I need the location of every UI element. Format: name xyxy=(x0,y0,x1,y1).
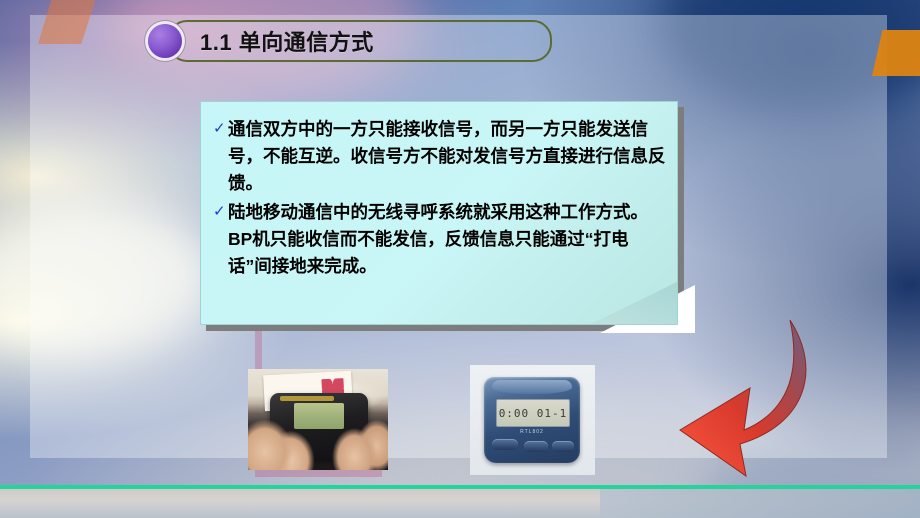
pager-top-bevel xyxy=(492,380,572,394)
teal-divider-rule xyxy=(0,485,920,489)
bottom-band-right xyxy=(600,489,920,518)
list-item: ✓ 通信双方中的一方只能接收信号，而另一方只能发送信号，不能互逆。收信号方不能对… xyxy=(213,116,667,197)
pager-button xyxy=(524,441,548,452)
page-title: 1.1 单向通信方式 xyxy=(200,25,374,57)
hand-fingers-decor xyxy=(248,410,388,470)
checkmark-icon: ✓ xyxy=(213,199,227,225)
pager-button xyxy=(552,441,574,452)
title-pill-frame: 1.1 单向通信方式 xyxy=(168,20,552,62)
blue-pager-device: 0:00 01-1 RTL802 xyxy=(484,377,580,463)
slide-canvas: 1.1 单向通信方式 ✓ 通信双方中的一方只能接收信号，而另一方只能发送信号，不… xyxy=(0,0,920,518)
hand-holding-pager-photo xyxy=(248,369,388,470)
purple-sphere-bullet-icon xyxy=(148,24,182,58)
pager-lcd-text: 0:00 01-1 xyxy=(499,407,568,420)
list-item: ✓ 陆地移动通信中的无线寻呼系统就采用这种工作方式。BP机只能收信而不能发信，反… xyxy=(213,199,667,280)
content-text-box: ✓ 通信双方中的一方只能接收信号，而另一方只能发送信号，不能互逆。收信号方不能对… xyxy=(200,101,678,325)
pager-button xyxy=(492,439,518,450)
checkmark-icon: ✓ xyxy=(213,116,227,142)
slide-title: 1.1 单向通信方式 xyxy=(148,21,552,61)
pager-brand-label: RTL802 xyxy=(484,429,580,435)
blue-pager-photo: 0:00 01-1 RTL802 xyxy=(470,365,595,475)
list-item-label: 陆地移动通信中的无线寻呼系统就采用这种工作方式。BP机只能收信而不能发信，反馈信… xyxy=(228,199,667,280)
list-item-label: 通信双方中的一方只能接收信号，而另一方只能发送信号，不能互逆。收信号方不能对发信… xyxy=(228,116,667,197)
pager-gold-strip xyxy=(280,396,334,401)
pager-lcd-screen: 0:00 01-1 xyxy=(496,399,570,427)
